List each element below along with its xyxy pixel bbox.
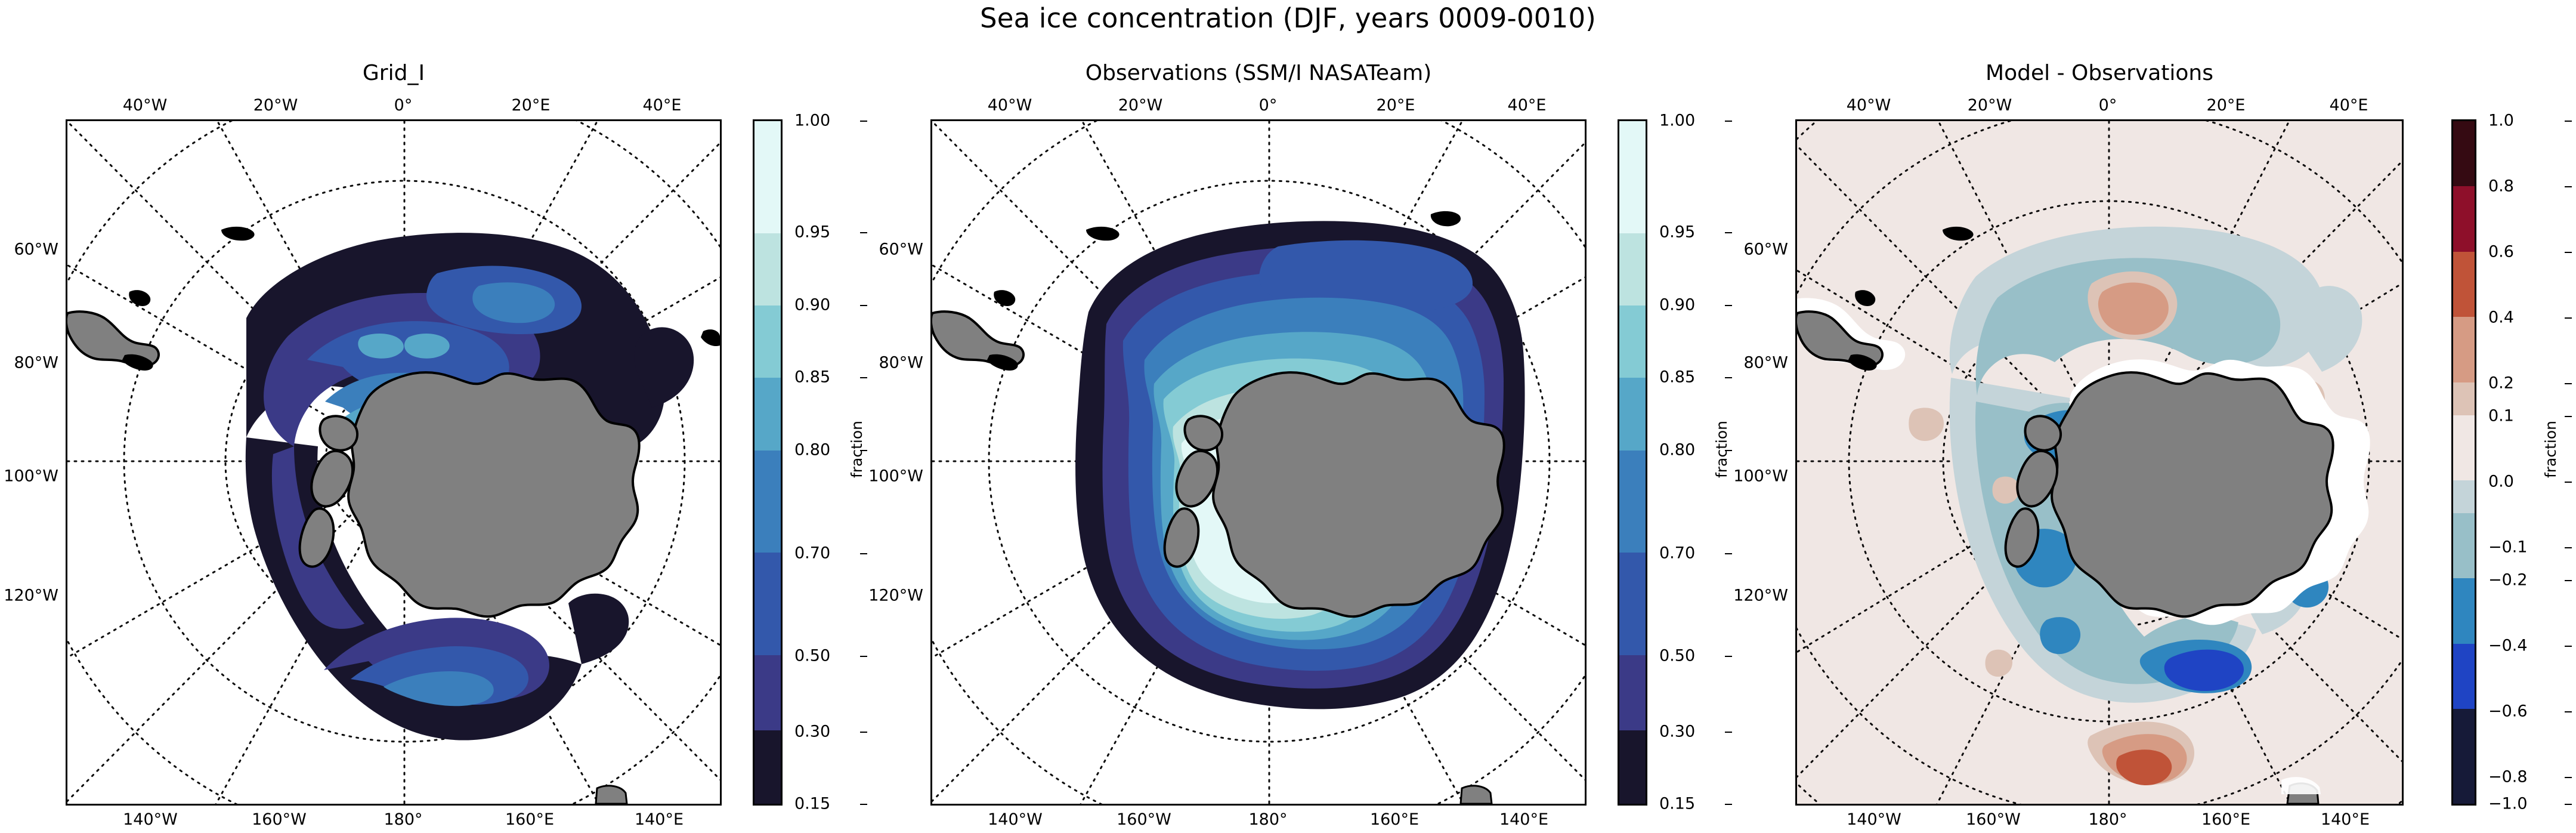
cbar-tick-label: 0.85 [1659, 368, 1695, 387]
lat-tick-left: 100°W [4, 467, 58, 486]
cbar-band [754, 451, 781, 553]
cbar-tick-label: 0.90 [1659, 296, 1695, 314]
lon-tick-bottom: 140°E [1499, 810, 1548, 829]
cbar-tick-label: 0.1 [2488, 407, 2514, 425]
cbar-band [2453, 578, 2475, 643]
cbar-band [2453, 709, 2475, 804]
lon-tick-bottom: 140°W [123, 810, 178, 829]
cbar-tick-label: 0.50 [794, 647, 830, 665]
cbar-tick-label: 0.80 [1659, 441, 1695, 459]
cbar-band [2453, 415, 2475, 480]
cbar-tick-label: −0.1 [2488, 538, 2528, 557]
lon-tick-bottom: 160°E [2201, 810, 2250, 829]
lat-tick-left: 120°W [868, 587, 923, 605]
cbar-tick-label: −0.2 [2488, 571, 2528, 590]
map-observations-svg [932, 121, 1585, 804]
lat-tick-left: 120°W [4, 587, 58, 605]
lat-tick-left: 100°W [1733, 467, 1788, 486]
cbar-band [754, 553, 781, 655]
cbar-tick-label: −0.8 [2488, 768, 2528, 786]
lon-tick-bottom: 180° [2088, 810, 2127, 829]
cbar-band [754, 378, 781, 450]
cbar-tick-label: 0.30 [1659, 723, 1695, 741]
cbar-band [1619, 553, 1646, 655]
cbar-band [2453, 382, 2475, 415]
cbar-tick-label: 0.95 [1659, 223, 1695, 242]
lon-tick-top: 20°W [1118, 96, 1163, 115]
cbar-tick-label: 0.6 [2488, 243, 2514, 261]
cbar-band [2453, 121, 2475, 186]
cbar-band [2453, 186, 2475, 251]
cbar-band [2453, 644, 2475, 709]
lon-tick-bottom: 160°W [1966, 810, 2021, 829]
cbar-band [2453, 480, 2475, 513]
cbar-tick-label: 0.0 [2488, 473, 2514, 491]
cbar-band [754, 121, 781, 233]
cbar-tick-label: 1.00 [794, 112, 830, 130]
lat-tick-left: 60°W [1743, 240, 1788, 259]
lon-tick-top: 40°W [123, 96, 168, 115]
cbar-tick-label: 0.70 [794, 544, 830, 563]
lon-tick-bottom: 140°W [988, 810, 1043, 829]
cbar-tick-label: −0.6 [2488, 702, 2528, 721]
cbar-tick-label: 0.15 [1659, 795, 1695, 813]
cbar-band [2453, 513, 2475, 578]
colorbar-axis-label: fraction [1713, 421, 1730, 478]
cbar-tick-label: 1.0 [2488, 112, 2514, 130]
cbar-tick-label: 0.15 [794, 795, 830, 813]
lon-tick-bottom: 160°W [1117, 810, 1171, 829]
cbar-tick-label: −0.4 [2488, 637, 2528, 655]
lon-tick-bottom: 140°E [635, 810, 684, 829]
lon-tick-top: 40°E [2330, 96, 2368, 115]
lat-tick-left: 100°W [868, 467, 923, 486]
lon-tick-top: 40°W [1847, 96, 1891, 115]
cbar-band [1619, 233, 1646, 306]
cbar-tick-label: 0.4 [2488, 308, 2514, 327]
lat-tick-left: 80°W [1743, 354, 1788, 372]
map-difference-svg [1797, 121, 2402, 804]
lat-tick-left: 60°W [879, 240, 923, 259]
cbar-tick-label: 1.00 [1659, 112, 1695, 130]
lon-tick-top: 40°E [643, 96, 682, 115]
map-model-svg [67, 121, 720, 804]
cbar-tick-label: 0.85 [794, 368, 830, 387]
lat-tick-left: 80°W [14, 354, 58, 372]
cbar-tick-label: 0.2 [2488, 374, 2514, 393]
cbar-band [1619, 655, 1646, 730]
lon-tick-bottom: 140°W [1847, 810, 1901, 829]
map-observations[interactable] [930, 119, 1587, 806]
lon-tick-bottom: 180° [1248, 810, 1287, 829]
lat-tick-left: 80°W [879, 354, 923, 372]
cbar-tick-label: 0.8 [2488, 177, 2514, 196]
lat-tick-left: 60°W [14, 240, 58, 259]
map-difference[interactable] [1795, 119, 2404, 806]
lat-tick-left: 120°W [1733, 587, 1788, 605]
panel-title-observations: Observations (SSM/I NASATeam) [930, 61, 1587, 85]
cbar-tick-label: 0.30 [794, 723, 830, 741]
lon-tick-bottom: 160°E [505, 810, 554, 829]
colorbar-observations[interactable]: 1.00 0.95 0.90 0.85 0.80 0.70 0.50 0.30 … [1618, 119, 1725, 806]
panel-title-difference: Model - Observations [1795, 61, 2404, 85]
cbar-band [1619, 451, 1646, 553]
panel-title-model: Grid_I [66, 61, 722, 85]
figure-suptitle: Sea ice concentration (DJF, years 0009-0… [0, 2, 2576, 34]
cbar-band [1619, 306, 1646, 378]
lon-tick-top: 20°E [512, 96, 551, 115]
cbar-band [2453, 317, 2475, 382]
lon-tick-bottom: 140°E [2321, 810, 2370, 829]
cbar-band [754, 655, 781, 730]
lon-tick-bottom: 160°E [1370, 810, 1419, 829]
cbar-tick-label: −1.0 [2488, 795, 2528, 813]
map-model[interactable] [66, 119, 722, 806]
cbar-band [1619, 121, 1646, 233]
lon-tick-bottom: 160°W [252, 810, 307, 829]
cbar-tick-label: 0.95 [794, 223, 830, 242]
colorbar-difference[interactable]: 1.0 0.8 0.6 0.4 0.2 0.1 0.0 −0.1 −0.2 −0… [2451, 119, 2565, 806]
cbar-tick-label: 0.80 [794, 441, 830, 459]
lon-tick-bottom: 180° [384, 810, 422, 829]
cbar-band [1619, 730, 1646, 806]
figure-root: Sea ice concentration (DJF, years 0009-0… [0, 0, 2576, 833]
lon-tick-top: 20°W [1968, 96, 2012, 115]
cbar-tick-label: 0.70 [1659, 544, 1695, 563]
lon-tick-top: 40°E [1508, 96, 1547, 115]
cbar-band [1619, 378, 1646, 450]
lon-tick-top: 20°E [2207, 96, 2246, 115]
lon-tick-top: 20°W [253, 96, 298, 115]
lon-tick-top: 40°W [988, 96, 1032, 115]
lon-tick-top: 0° [1259, 96, 1278, 115]
cbar-band [754, 233, 781, 306]
lon-tick-top: 0° [394, 96, 413, 115]
colorbar-axis-label: fraction [2542, 421, 2559, 478]
cbar-band [754, 730, 781, 806]
lon-tick-top: 0° [2099, 96, 2117, 115]
cbar-tick-label: 0.50 [1659, 647, 1695, 665]
colorbar-axis-label: fraction [848, 421, 865, 478]
colorbar-model[interactable]: 1.00 0.95 0.90 0.85 0.80 0.70 0.50 0.30 … [753, 119, 860, 806]
cbar-band [754, 306, 781, 378]
cbar-tick-label: 0.90 [794, 296, 830, 314]
lon-tick-top: 20°E [1377, 96, 1415, 115]
cbar-band [2453, 252, 2475, 317]
